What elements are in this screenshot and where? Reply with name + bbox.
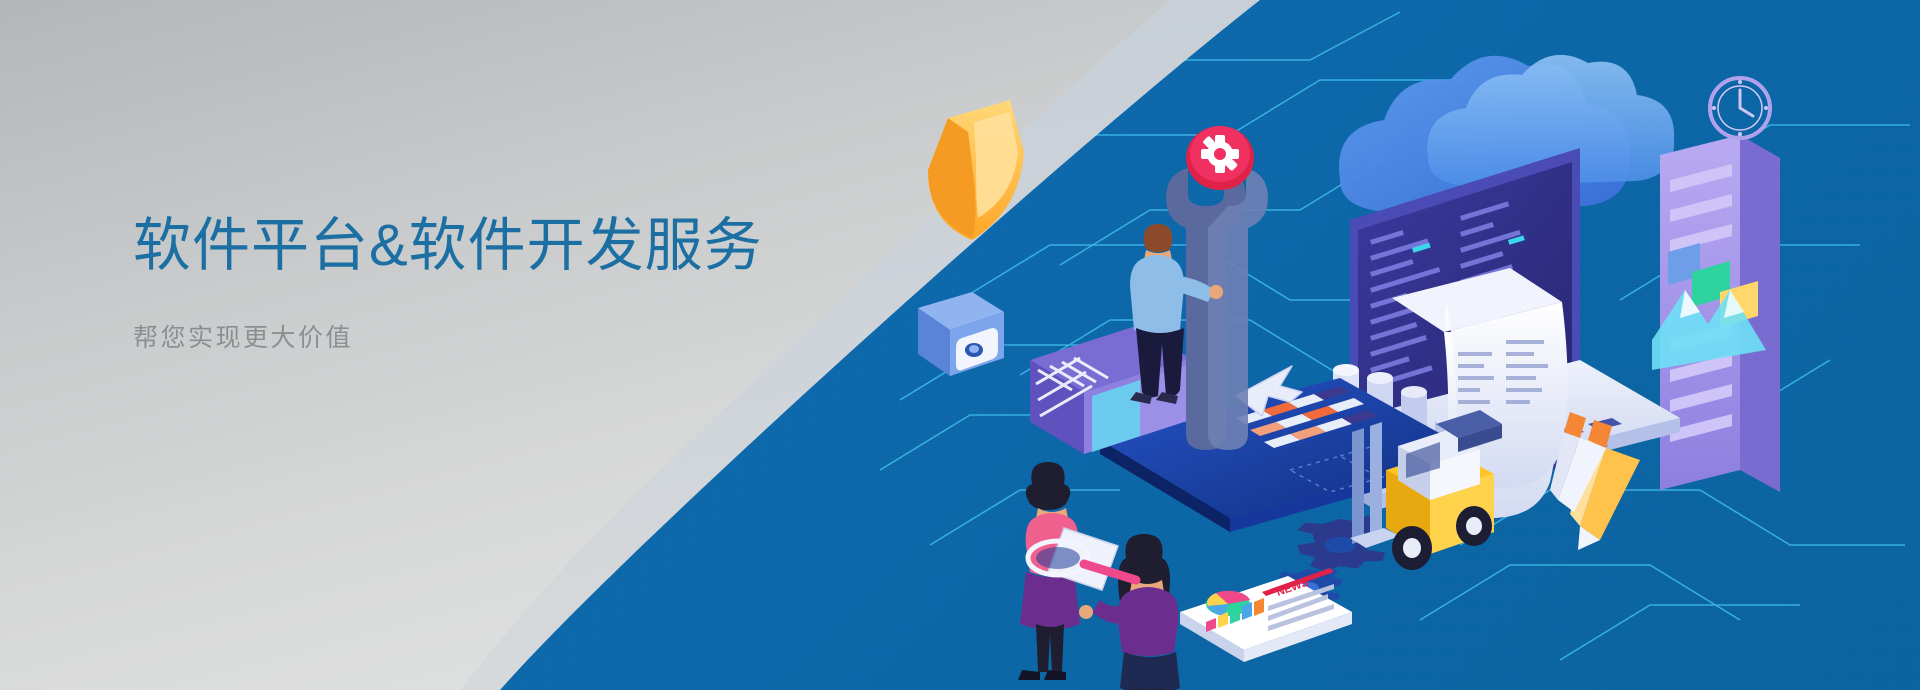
hero-banner: NEWS xyxy=(0,0,1920,690)
gear-badge-icon xyxy=(1186,126,1254,190)
isometric-illustration: NEWS xyxy=(1040,40,1920,690)
banner-copy: 软件平台&软件开发服务 帮您实现更大价值 xyxy=(133,212,893,353)
page-subtitle: 帮您实现更大价值 xyxy=(133,323,893,353)
clock-icon xyxy=(1710,78,1770,138)
page-title: 软件平台&软件开发服务 xyxy=(133,212,893,279)
